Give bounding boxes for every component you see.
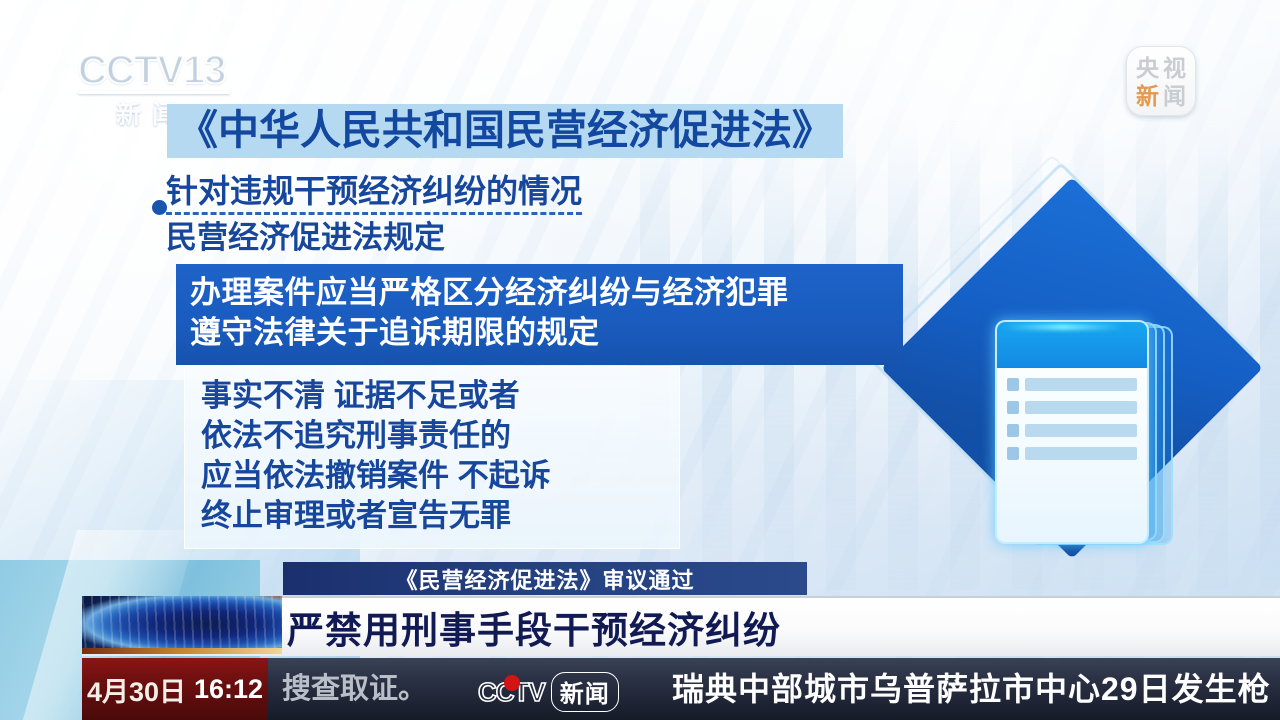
lower-third-globe-graphic <box>82 596 282 654</box>
ticker-headline: 瑞典中部城市乌普萨拉市中心29日发生枪 <box>672 658 1271 720</box>
ticker-cctv-red-dot-icon <box>504 675 520 691</box>
lead-line-1: 针对违规干预经济纠纷的情况 <box>166 172 582 215</box>
ticker-timestamp: 4月30日 16:12 <box>82 658 268 720</box>
ticker-cctv-sub-box: 新闻 <box>551 672 619 712</box>
applogo-char-wen: 闻 <box>1161 82 1188 110</box>
applogo-char-xin: 新 <box>1134 82 1161 110</box>
ticker-cctv-sub: 新闻 <box>560 681 610 708</box>
bullet-dot-icon <box>152 200 167 215</box>
light-box-line-3: 应当依法撤销案件 不起诉 <box>201 456 665 496</box>
blue-provision-box: 办理案件应当严格区分经济纠纷与经济犯罪 遵守法律关于追诉期限的规定 <box>176 264 903 365</box>
document-glow <box>1003 324 1123 330</box>
channel-number: 13 <box>183 48 226 92</box>
blue-box-line-1: 办理案件应当严格区分经济纠纷与经济犯罪 <box>190 273 889 313</box>
broadcast-screen: CCTV13 新 闻 央 视 新 闻 《中华人民共和国民营经济促进法》 针对违规… <box>0 0 1280 720</box>
ticker-clock: 16:12 <box>194 674 263 705</box>
applogo-char-yang: 央 <box>1134 54 1161 82</box>
lead-block: 针对违规干预经济纠纷的情况 民营经济促进法规定 <box>166 172 582 258</box>
lead-line-2: 民营经济促进法规定 <box>166 218 582 258</box>
cctv-news-app-logo: 央 视 新 闻 <box>1126 46 1196 116</box>
light-box-line-1: 事实不清 证据不足或者 <box>201 376 665 416</box>
lower-third-headline-text: 严禁用刑事手段干预经济纠纷 <box>287 600 781 654</box>
law-title-text: 《中华人民共和国民营经济促进法》 <box>177 107 833 153</box>
light-detail-box: 事实不清 证据不足或者 依法不追究刑事责任的 应当依法撤销案件 不起诉 终止审理… <box>184 366 680 549</box>
ticker-previous-text: 搜查取证。 <box>282 658 427 720</box>
cctv-text: CCTV <box>78 48 183 92</box>
law-title-banner: 《中华人民共和国民营经济促进法》 <box>167 104 843 158</box>
document-text-line <box>1007 378 1137 391</box>
light-box-line-4: 终止审理或者宣告无罪 <box>201 496 665 536</box>
document-text-line <box>1007 424 1137 437</box>
document-header-band <box>997 322 1147 368</box>
document-graphic <box>885 215 1280 615</box>
document-text-line <box>1007 447 1137 460</box>
ticker-cctv-news-logo: CCTV 新闻 <box>478 672 619 712</box>
document-text-line <box>1007 401 1137 414</box>
lower-third-kicker-text: 《民营经济促进法》审议通过 <box>395 563 694 595</box>
light-box-line-2: 依法不追究刑事责任的 <box>201 416 665 456</box>
document-icon <box>995 320 1149 544</box>
cctv13-logo-mark: CCTV13 <box>78 48 253 93</box>
lower-third-globe-strip <box>82 648 282 654</box>
lower-third-kicker: 《民营经济促进法》审议通过 <box>283 562 807 595</box>
blue-box-line-2: 遵守法律关于追诉期限的规定 <box>190 313 889 353</box>
applogo-char-shi: 视 <box>1161 54 1188 82</box>
ticker-date: 4月30日 <box>87 670 186 709</box>
